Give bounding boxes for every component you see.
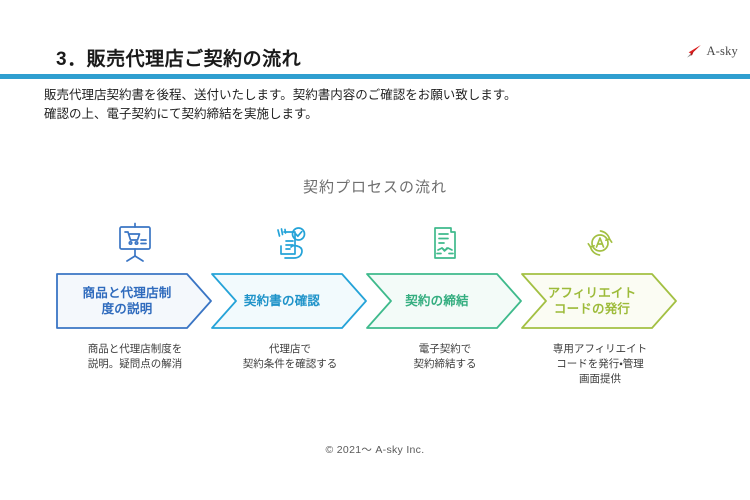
step-caption-2-line2: 契約条件を確認する (210, 357, 370, 372)
step-caption-1: 商品と代理店制度を 説明。疑問点の解消 (55, 342, 215, 372)
brand-name: A-sky (706, 44, 738, 59)
slide-header: 3．販売代理店ご契約の流れ A-sky (0, 0, 750, 80)
step-caption-4: 専用アフィリエイト コードを発行・管理 画面提供 (520, 342, 680, 387)
header-divider-rule (0, 74, 750, 79)
step-caption-3-line1: 電子契約で (365, 342, 525, 357)
hand-document-check-icon (210, 218, 370, 268)
chevron-label-4-line1: アフィリエイト (548, 286, 637, 300)
step-caption-3: 電子契約で 契約締結する (365, 342, 525, 372)
affiliate-code-refresh-a-icon (520, 218, 680, 268)
page-title: 3．販売代理店ご契約の流れ (56, 44, 301, 71)
intro-line-1: 販売代理店契約書を後程、送付いたします。契約書内容のご確認をお願い致します。 (44, 86, 704, 105)
process-flow-diagram: 商品と代理店制 度の説明 商品と代理店制度を 説明。疑問点の解消 (55, 218, 695, 408)
step-caption-3-line2: 契約締結する (365, 357, 525, 372)
footer-copyright: © 2021〜 A-sky Inc. (0, 442, 750, 457)
presentation-board-cart-icon (55, 218, 215, 268)
step-caption-2: 代理店で 契約条件を確認する (210, 342, 370, 372)
step-caption-1-line2: 説明。疑問点の解消 (55, 357, 215, 372)
step-caption-4-line2: コードを発行・管理 (520, 357, 680, 372)
process-step-4: アフィリエイト コードの発行 専用アフィリエイト コードを発行・管理 画面提供 (520, 218, 680, 408)
chevron-label-4-line2: コードの発行 (554, 302, 630, 316)
chevron-label-1: 商品と代理店制 度の説明 (65, 272, 189, 330)
chevron-shape-2[interactable]: 契約書の確認 (210, 272, 370, 330)
step-caption-2-line1: 代理店で (210, 342, 370, 357)
process-step-1: 商品と代理店制 度の説明 商品と代理店制度を 説明。疑問点の解消 (55, 218, 215, 408)
step-caption-4-line3: 画面提供 (520, 372, 680, 387)
process-heading: 契約プロセスの流れ (0, 176, 750, 197)
chevron-label-2: 契約書の確認 (220, 272, 344, 330)
chevron-label-3: 契約の締結 (375, 272, 499, 330)
chevron-shape-1[interactable]: 商品と代理店制 度の説明 (55, 272, 215, 330)
red-dart-arrow-icon (685, 45, 702, 58)
step-caption-4-line1: 専用アフィリエイト (520, 342, 680, 357)
chevron-label-1-line2: 度の説明 (102, 302, 153, 316)
slide-canvas: { "header": { "title": "3．販売代理店ご契約の流れ", … (0, 0, 750, 500)
step-caption-1-line1: 商品と代理店制度を (55, 342, 215, 357)
chevron-shape-4[interactable]: アフィリエイト コードの発行 (520, 272, 680, 330)
brand-logo: A-sky (685, 44, 738, 59)
contract-handshake-icon (365, 218, 525, 268)
intro-paragraph: 販売代理店契約書を後程、送付いたします。契約書内容のご確認をお願い致します。 確… (44, 86, 704, 124)
process-step-3: 契約の締結 電子契約で 契約締結する (365, 218, 525, 408)
chevron-shape-3[interactable]: 契約の締結 (365, 272, 525, 330)
chevron-label-2-line1: 契約書の確認 (244, 293, 320, 309)
chevron-label-4: アフィリエイト コードの発行 (530, 272, 654, 330)
chevron-label-1-line1: 商品と代理店制 (83, 286, 172, 300)
intro-line-2: 確認の上、電子契約にて契約締結を実施します。 (44, 105, 704, 124)
process-step-2: 契約書の確認 代理店で 契約条件を確認する (210, 218, 370, 408)
chevron-label-3-line1: 契約の締結 (405, 293, 469, 309)
